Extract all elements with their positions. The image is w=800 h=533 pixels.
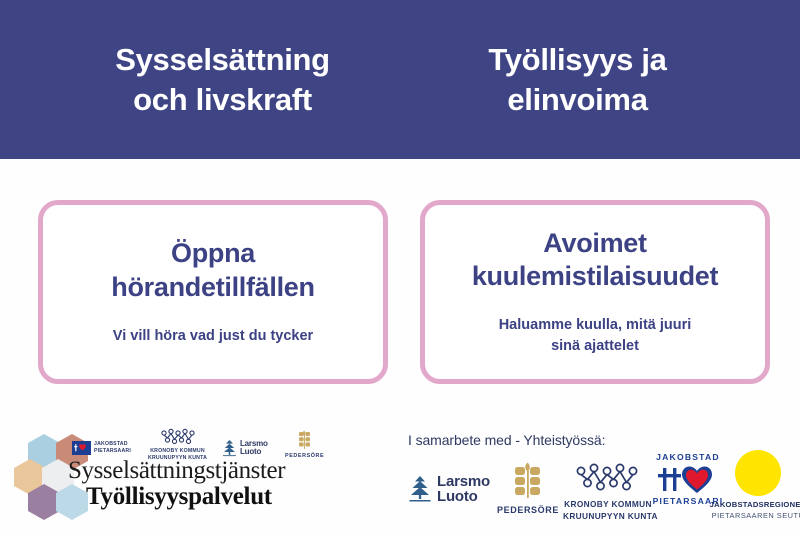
brand-wordmark-finnish: Työllisyyspalvelut bbox=[86, 484, 338, 510]
partners-label: I samarbete med - Yhteistyössä: bbox=[408, 432, 605, 448]
card-finnish-subtitle-line1: Haluamme kuulla, mitä juuri bbox=[499, 317, 692, 333]
partner-logo-jakobstadsregionen: JAKOBSTADSREGIONEN PIETARSAAREN SEUTU bbox=[708, 450, 800, 520]
header-banner: Sysselsättning och livskraft Työllisyys … bbox=[0, 0, 800, 159]
card-finnish-title-line1: Avoimet bbox=[543, 228, 646, 258]
card-finnish-title-line2: kuulemistilaisuudet bbox=[472, 260, 718, 294]
wheat-icon bbox=[296, 430, 313, 451]
card-swedish-subtitle-line1: Vi vill höra vad just du tycker bbox=[113, 328, 313, 344]
partner-logo-kronoby: KRONOBY KOMMUN KRUUNUPYYN KUNTA bbox=[563, 462, 653, 522]
partner-logo-pedersore: PEDERSÖRE bbox=[493, 462, 563, 515]
header-title-finnish-line2: elinvoima bbox=[425, 80, 730, 119]
wheat-icon bbox=[510, 462, 546, 502]
partners-block: I samarbete med - Yhteistyössä: Larsmo L… bbox=[408, 400, 798, 525]
heart-cross-icon bbox=[72, 441, 91, 455]
poster-root: Sysselsättning och livskraft Työllisyys … bbox=[0, 0, 800, 533]
card-swedish-subtitle: Vi vill höra vad just du tycker bbox=[113, 326, 313, 347]
card-swedish-title-line2: hörandetillfällen bbox=[111, 271, 314, 305]
partner-logo-pedersore-text: PEDERSÖRE bbox=[493, 505, 563, 515]
brand-logo-pedersore: PEDERSÖRE bbox=[285, 430, 324, 459]
footer-region: JAKOBSTAD PIETARSAARI bbox=[0, 392, 800, 533]
partners-logo-row: Larsmo Luoto bbox=[408, 458, 798, 528]
card-finnish-title: Avoimet kuulemistilaisuudet bbox=[472, 227, 718, 295]
partner-logo-larsmo-text: Larsmo Luoto bbox=[437, 474, 490, 504]
spruce-icon bbox=[222, 439, 237, 457]
brand-logo-larsmo: Larsmo Luoto bbox=[222, 439, 268, 457]
brand-logo-jakobstad-text: JAKOBSTAD PIETARSAARI bbox=[94, 441, 131, 455]
brand-wordmark: Sysselsättningstjänster Työllisyyspalvel… bbox=[68, 458, 338, 511]
yellow-circle-icon bbox=[735, 450, 781, 496]
card-finnish[interactable]: Avoimet kuulemistilaisuudet Haluamme kuu… bbox=[420, 200, 770, 384]
partner-logo-jakobstadsregionen-line1: JAKOBSTADSREGIONEN bbox=[708, 500, 800, 509]
brand-wordmark-swedish: Sysselsättningstjänster bbox=[68, 458, 338, 484]
header-title-swedish: Sysselsättning och livskraft bbox=[70, 40, 375, 119]
brand-logo-larsmo-text: Larsmo Luoto bbox=[240, 440, 268, 456]
header-title-finnish-line1: Työllisyys ja bbox=[488, 42, 666, 77]
partner-logo-kronoby-text: KRONOBY KOMMUN KRUUNUPYYN KUNTA bbox=[563, 499, 653, 522]
card-finnish-subtitle-line2: sinä ajattelet bbox=[499, 336, 692, 357]
people-chain-icon bbox=[572, 462, 644, 495]
card-swedish-title: Öppna hörandetillfällen bbox=[111, 237, 314, 305]
card-swedish-title-line1: Öppna bbox=[171, 238, 255, 268]
partner-logo-jakobstadsregionen-line2: PIETARSAAREN SEUTU bbox=[708, 511, 800, 520]
header-title-swedish-line2: och livskraft bbox=[70, 80, 375, 119]
brand-lockup: JAKOBSTAD PIETARSAARI bbox=[10, 424, 340, 524]
people-chain-icon bbox=[158, 428, 198, 447]
partner-logo-larsmo: Larsmo Luoto bbox=[408, 474, 490, 504]
header-title-swedish-line1: Sysselsättning bbox=[115, 42, 330, 77]
cards-region: Öppna hörandetillfällen Vi vill höra vad… bbox=[0, 200, 800, 385]
card-swedish[interactable]: Öppna hörandetillfällen Vi vill höra vad… bbox=[38, 200, 388, 384]
spruce-icon bbox=[408, 475, 432, 504]
brand-logo-jakobstad: JAKOBSTAD PIETARSAARI bbox=[72, 441, 131, 455]
card-finnish-subtitle: Haluamme kuulla, mitä juuri sinä ajattel… bbox=[499, 315, 692, 357]
header-title-finnish: Työllisyys ja elinvoima bbox=[425, 40, 730, 119]
